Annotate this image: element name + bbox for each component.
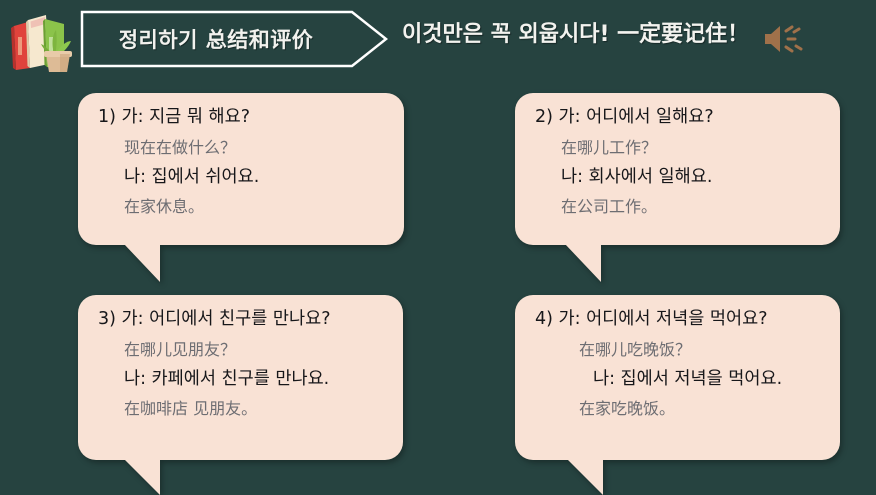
bubble-3-line-1: 3) 가: 어디에서 친구를 만나요? [98,311,389,329]
bubble-1-content: 1) 가: 지금 뭐 해요? 现在在做什么？ 나: 집에서 쉬어요. 在家休息。 [78,93,404,238]
section-banner-label: 정리하기 总结和评价 [80,10,352,68]
speech-bubble-2: 2) 가: 어디에서 일해요? 在哪儿工作？ 나: 회사에서 일해요. 在公司工… [515,93,840,245]
bubble-4-content: 4) 가: 어디에서 저녁을 먹어요? 在哪儿吃晚饭？ 나: 집에서 저녁을 먹… [515,295,840,440]
bubble-2-line-2: 在哪儿工作？ [535,140,826,156]
bubble-2-line-4: 在公司工作。 [535,199,826,215]
bubble-tail [565,244,601,282]
bubble-4-line-3: 나: 집에서 저녁을 먹어요. [535,371,826,389]
speech-bubble-3: 3) 가: 어디에서 친구를 만나요? 在哪儿见朋友？ 나: 카페에서 친구를 … [78,295,403,460]
bubble-2-content: 2) 가: 어디에서 일해요? 在哪儿工作？ 나: 회사에서 일해요. 在公司工… [515,93,840,238]
bubble-2-line-3: 나: 회사에서 일해요. [535,169,826,187]
bubble-3-content: 3) 가: 어디에서 친구를 만나요? 在哪儿见朋友？ 나: 카페에서 친구를 … [78,295,403,440]
bubble-1-line-3: 나: 집에서 쉬어요. [98,169,390,187]
bubble-1-line-1: 1) 가: 지금 뭐 해요? [98,109,390,127]
bubble-4-line-1: 4) 가: 어디에서 저녁을 먹어요? [535,311,826,329]
speaker-icon[interactable] [762,22,806,56]
bubble-1-line-2: 现在在做什么？ [98,140,390,156]
bubble-4-line-4: 在家吃晚饭。 [535,401,826,417]
header-headline: 이것만은 꼭 외웁시다! 一定要记住！ [402,20,749,50]
bubble-tail [124,244,160,282]
slide-header: 정리하기 总结和评价 이것만은 꼭 외웁시다! 一定要记住！ [0,0,876,82]
bubble-3-line-2: 在哪儿见朋友？ [98,342,389,358]
speech-bubble-4: 4) 가: 어디에서 저녁을 먹어요? 在哪儿吃晚饭？ 나: 집에서 저녁을 먹… [515,295,840,460]
section-banner: 정리하기 总结和评价 [80,10,388,68]
bubble-3-line-4: 在咖啡店 见朋友。 [98,401,389,417]
books-and-plant-icon [6,4,78,76]
speech-bubble-1: 1) 가: 지금 뭐 해요? 现在在做什么？ 나: 집에서 쉬어요. 在家休息。 [78,93,404,245]
bubble-tail [124,459,160,495]
bubble-1-line-4: 在家休息。 [98,199,390,215]
slide-canvas: 정리하기 总结和评价 이것만은 꼭 외웁시다! 一定要记住！ 1) 가: 지금 … [0,0,876,488]
bubble-4-line-2: 在哪儿吃晚饭？ [535,342,826,358]
bubble-3-line-3: 나: 카페에서 친구를 만나요. [98,371,389,389]
bubble-2-line-1: 2) 가: 어디에서 일해요? [535,109,826,127]
bubble-tail [567,459,603,495]
